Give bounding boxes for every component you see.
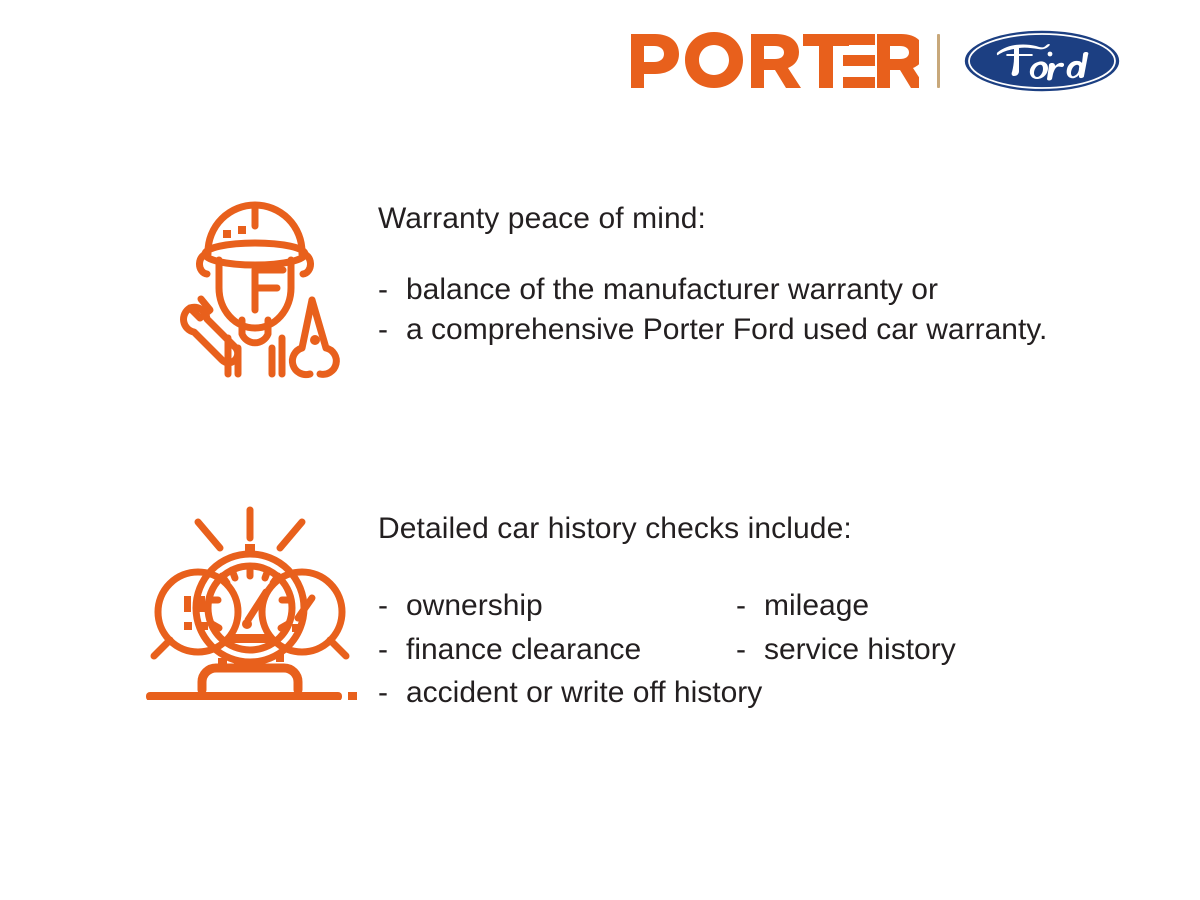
list-item: - finance clearance bbox=[378, 630, 736, 670]
list-item-label: balance of the manufacturer warranty or bbox=[406, 270, 938, 310]
porter-logo bbox=[631, 32, 883, 90]
list-item-label: mileage bbox=[764, 586, 869, 626]
list-item: - mileage bbox=[736, 586, 956, 626]
history-text: Detailed car history checks include: - o… bbox=[378, 500, 956, 713]
list-item-label: finance clearance bbox=[406, 630, 641, 670]
slide-root: Warranty peace of mind: - balance of the… bbox=[0, 0, 1200, 900]
ford-logo bbox=[962, 28, 1122, 94]
bullet-dash: - bbox=[378, 310, 406, 350]
list-item: - service history bbox=[736, 630, 956, 670]
bullet-dash: - bbox=[378, 630, 406, 670]
list-item-label: accident or write off history bbox=[406, 673, 762, 713]
bullet-dash: - bbox=[378, 673, 406, 713]
bullet-dash: - bbox=[736, 586, 764, 626]
brand-divider bbox=[937, 34, 940, 88]
list-item: - ownership bbox=[378, 586, 736, 626]
bullet-dash: - bbox=[378, 586, 406, 626]
history-checks-grid: - ownership - mileage - finance clearanc… bbox=[378, 586, 956, 713]
bullet-dash: - bbox=[736, 630, 764, 670]
list-item-label: service history bbox=[764, 630, 956, 670]
bullet-dash: - bbox=[378, 270, 406, 310]
warranty-heading: Warranty peace of mind: bbox=[378, 202, 1047, 236]
brand-header bbox=[631, 28, 1122, 94]
list-item: - balance of the manufacturer warranty o… bbox=[378, 270, 1047, 310]
list-item: - a comprehensive Porter Ford used car w… bbox=[378, 310, 1047, 350]
warranty-bullet-list: - balance of the manufacturer warranty o… bbox=[378, 270, 1047, 349]
mechanic-hardhat-tools-icon bbox=[150, 180, 360, 380]
warranty-text: Warranty peace of mind: - balance of the… bbox=[378, 180, 1047, 349]
list-item-label: ownership bbox=[406, 586, 543, 626]
list-item: - accident or write off history bbox=[378, 673, 956, 713]
porter-logo-final-r bbox=[877, 32, 919, 90]
section-history-checks: Detailed car history checks include: - o… bbox=[140, 500, 956, 713]
history-heading: Detailed car history checks include: bbox=[378, 512, 956, 546]
section-warranty: Warranty peace of mind: - balance of the… bbox=[150, 180, 1047, 380]
list-item-label: a comprehensive Porter Ford used car war… bbox=[406, 310, 1047, 350]
dashboard-gauges-warning-icon bbox=[140, 500, 360, 700]
